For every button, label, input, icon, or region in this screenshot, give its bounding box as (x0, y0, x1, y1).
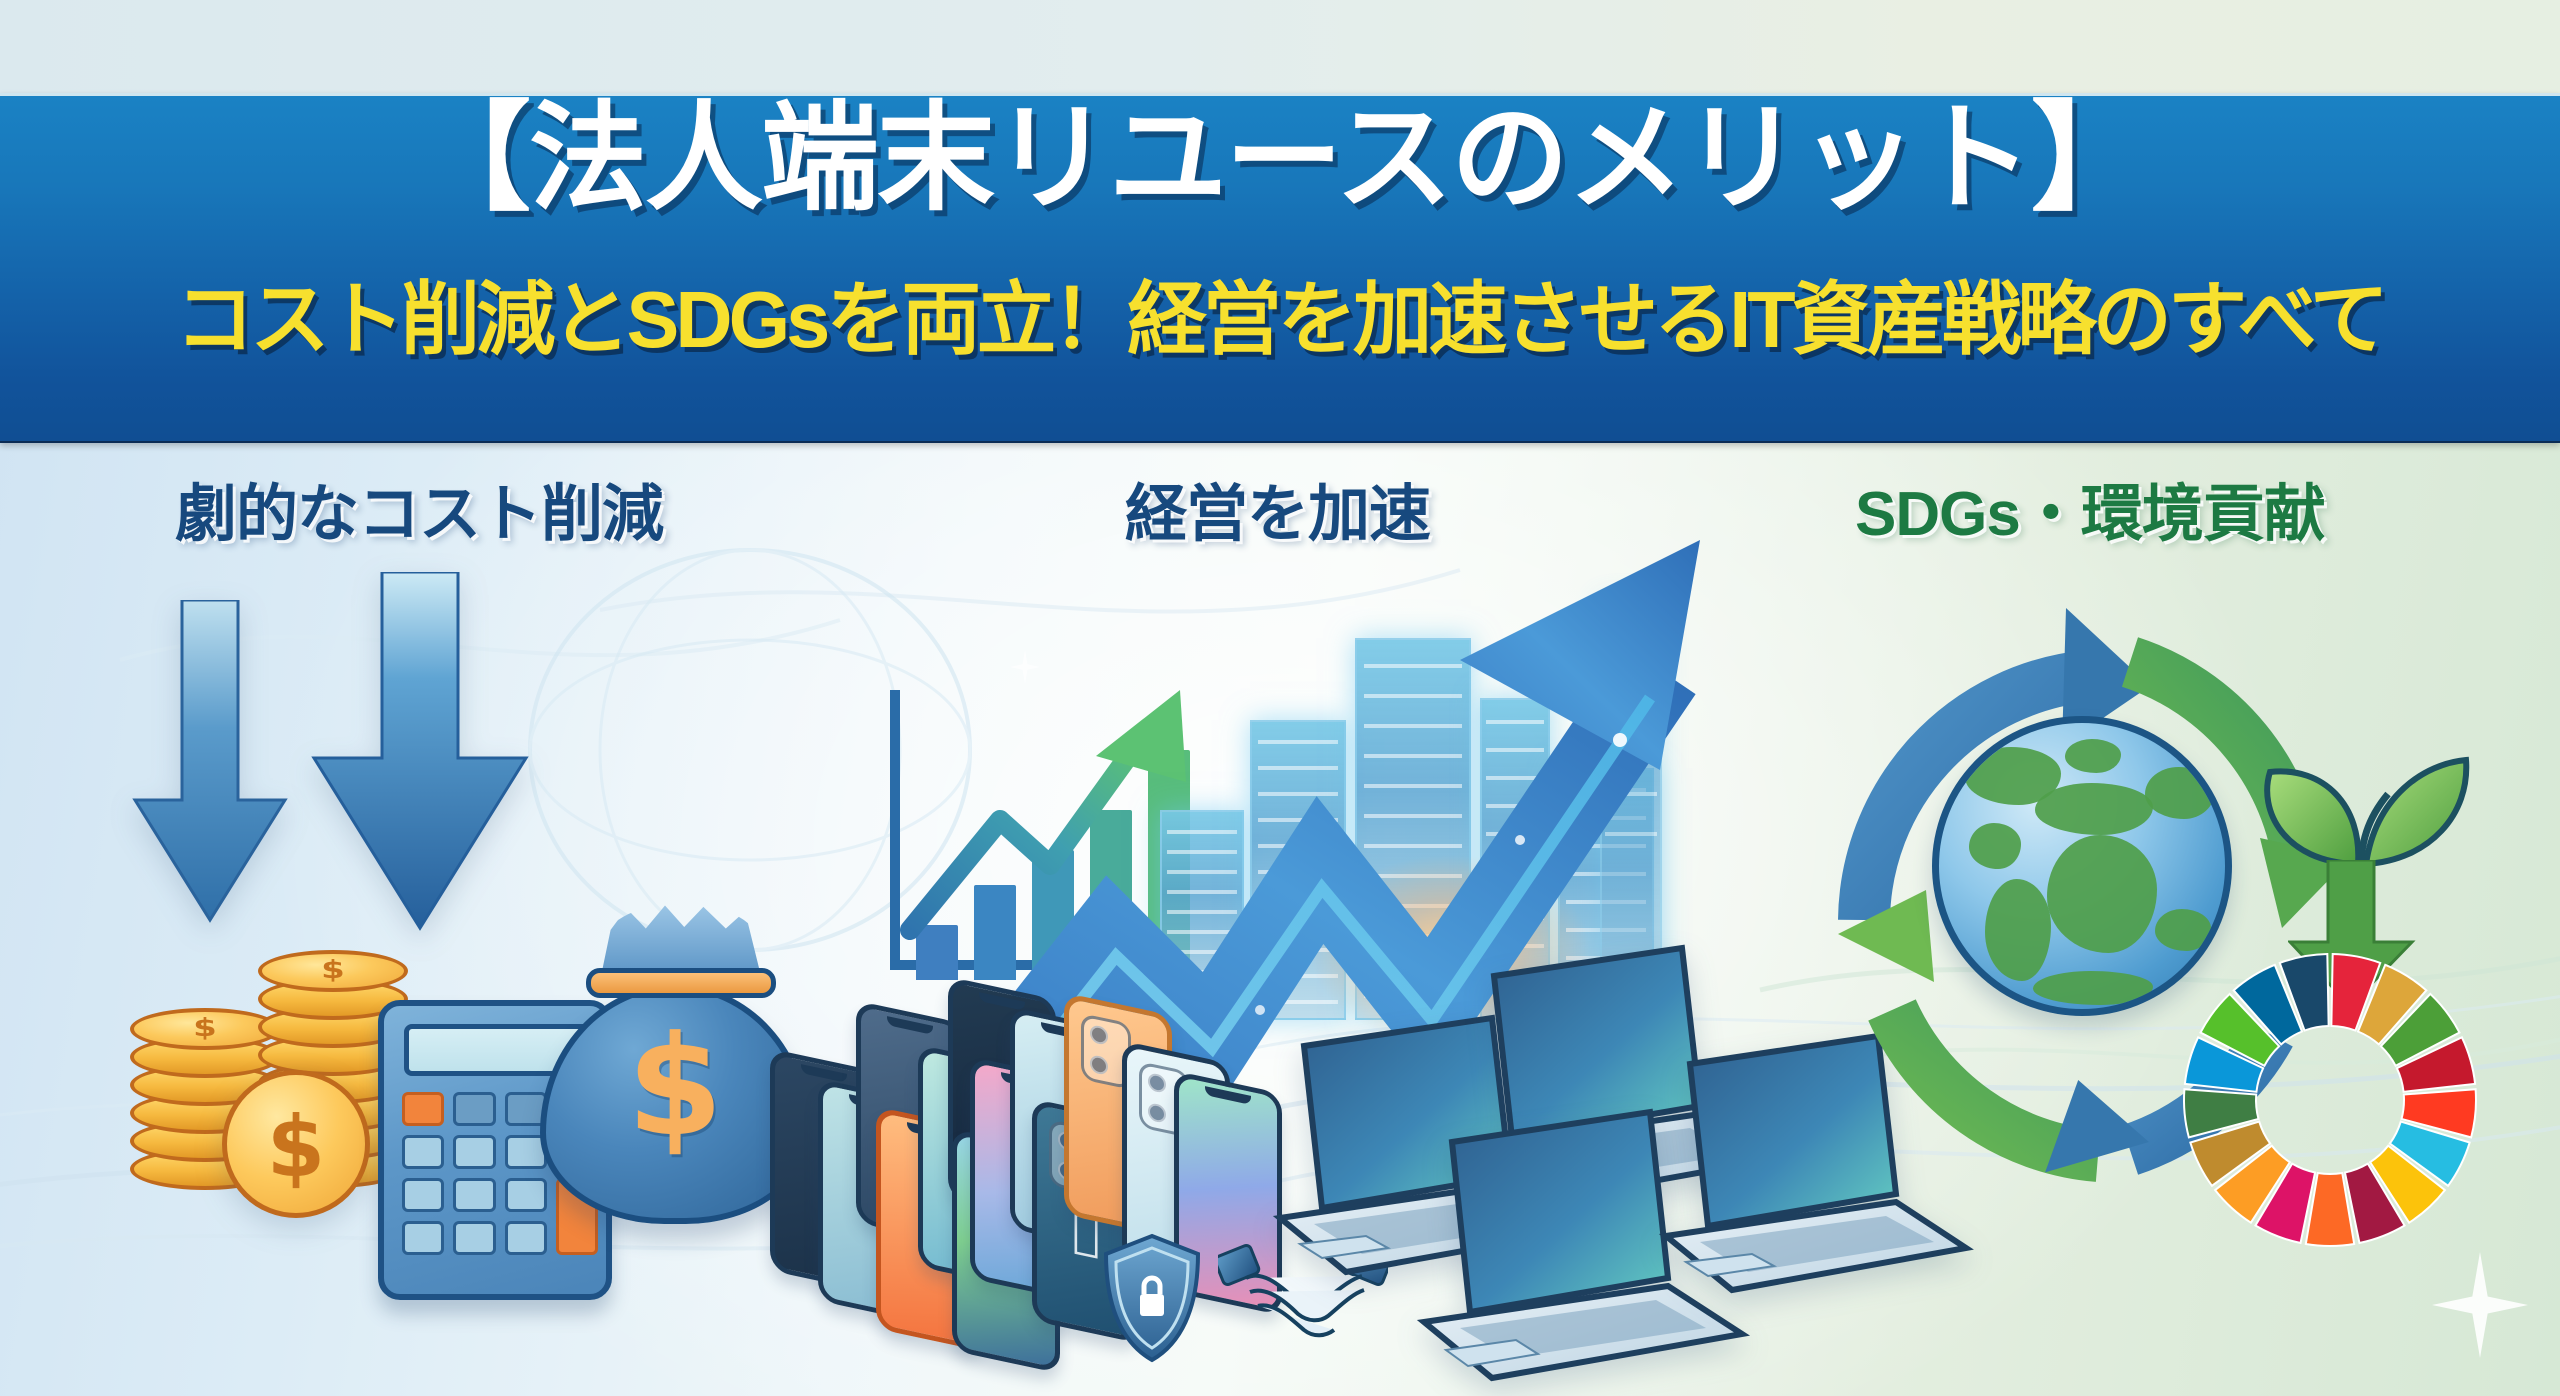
calculator-key (453, 1178, 495, 1212)
page-title: 【法人端末リユースのメリット】 (0, 100, 2560, 218)
calculator-key (402, 1221, 444, 1255)
leaf-sprout-icon (2248, 714, 2478, 884)
banner-canvas: 【法人端末リユースのメリット】 コスト削減とSDGsを両立！経営を加速させるIT… (0, 0, 2560, 1396)
background-top-strip (0, 0, 2560, 93)
dollar-sign: $ (134, 1014, 276, 1043)
dollar-sign: $ (546, 1018, 804, 1156)
calculator-key (453, 1221, 495, 1255)
dollar-sign: $ (227, 1105, 365, 1189)
dollar-sign: $ (262, 956, 404, 985)
coin-icon: $ (222, 1070, 370, 1218)
sdg-wheel-icon (2180, 950, 2480, 1250)
calculator-key (402, 1092, 444, 1126)
section-label-cost: 劇的なコスト削減 (175, 484, 663, 546)
page-subtitle: コスト削減とSDGsを両立！経営を加速させるIT資産戦略のすべて (13, 280, 2547, 360)
money-bag-neck (601, 904, 761, 976)
section-label-sdgs: SDGs・環境貢献 (1855, 484, 2325, 546)
money-bag-tie (586, 968, 776, 998)
section-label-growth: 経営を加速 (1125, 484, 1430, 546)
calculator-key (453, 1135, 495, 1169)
calculator-key (402, 1178, 444, 1212)
shield-lock-icon (1100, 1232, 1204, 1364)
calculator-key (453, 1092, 495, 1126)
calculator-key (402, 1135, 444, 1169)
